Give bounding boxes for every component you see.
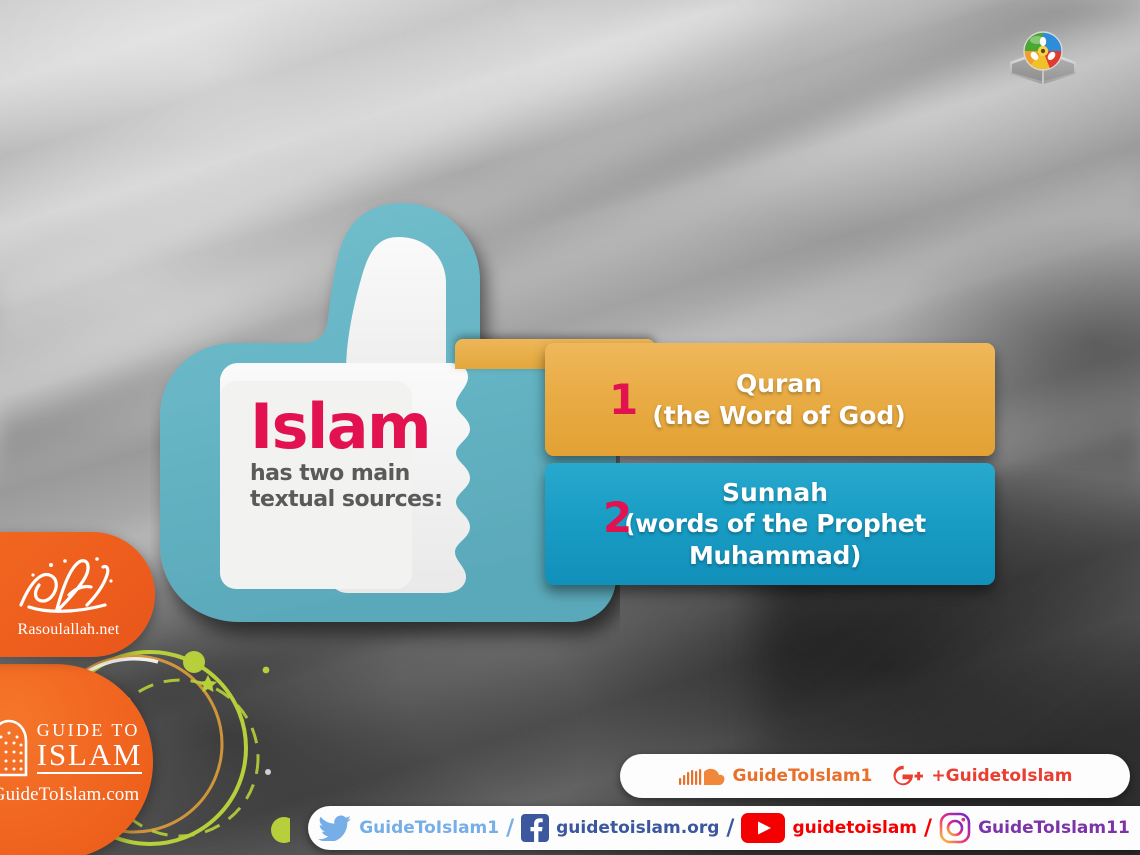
source-number-1: 1 <box>609 379 638 421</box>
instagram-icon <box>939 812 971 844</box>
source-number-2: 2 <box>603 497 632 539</box>
facebook-handle: guidetoislam.org <box>556 818 719 838</box>
separator-2: / <box>726 816 734 841</box>
social-link-youtube[interactable]: guidetoislam <box>741 813 917 843</box>
rasoulallah-name: Rasoulallah.net <box>17 621 119 639</box>
social-link-soundcloud[interactable]: GuideToIslam1 <box>678 764 873 788</box>
mosque-arch-icon <box>0 719 29 777</box>
rasoulallah-logo[interactable]: Rasoulallah.net <box>0 532 155 657</box>
soundcloud-handle: GuideToIslam1 <box>733 766 873 786</box>
social-bar-top: GuideToIslam1 +GuidetoIslam <box>620 754 1130 798</box>
separator-3: / <box>924 816 932 841</box>
twitter-handle: GuideToIslam1 <box>359 818 499 838</box>
soundcloud-icon <box>678 764 726 788</box>
arabic-calligraphy-icon <box>13 551 125 623</box>
social-bar-bottom: GuideToIslam1 / guidetoislam.org / guide… <box>308 806 1140 850</box>
guide-to-islam-url: GuideToIslam.com <box>0 784 139 806</box>
facebook-icon <box>521 814 549 842</box>
twitter-icon <box>318 815 352 841</box>
source-card-quran[interactable]: 1 Quran (the Word of God) <box>545 343 995 456</box>
guide-logo-line2: ISLAM <box>37 739 142 775</box>
youtube-handle: guidetoislam <box>792 818 917 838</box>
instagram-handle: GuideToIslam11 <box>978 818 1130 838</box>
globe-book-icon <box>1000 28 1086 90</box>
social-link-facebook[interactable]: guidetoislam.org <box>521 814 719 842</box>
google-plus-icon <box>890 764 924 788</box>
googleplus-handle: +GuidetoIslam <box>931 766 1072 786</box>
youtube-icon <box>741 813 785 843</box>
social-link-instagram[interactable]: GuideToIslam11 <box>939 812 1130 844</box>
social-link-googleplus[interactable]: +GuidetoIslam <box>890 764 1072 788</box>
social-link-twitter[interactable]: GuideToIslam1 <box>318 815 499 841</box>
source-card-sunnah[interactable]: 2 Sunnah (words of the Prophet Muhammad) <box>545 463 995 585</box>
separator-1: / <box>506 816 514 841</box>
